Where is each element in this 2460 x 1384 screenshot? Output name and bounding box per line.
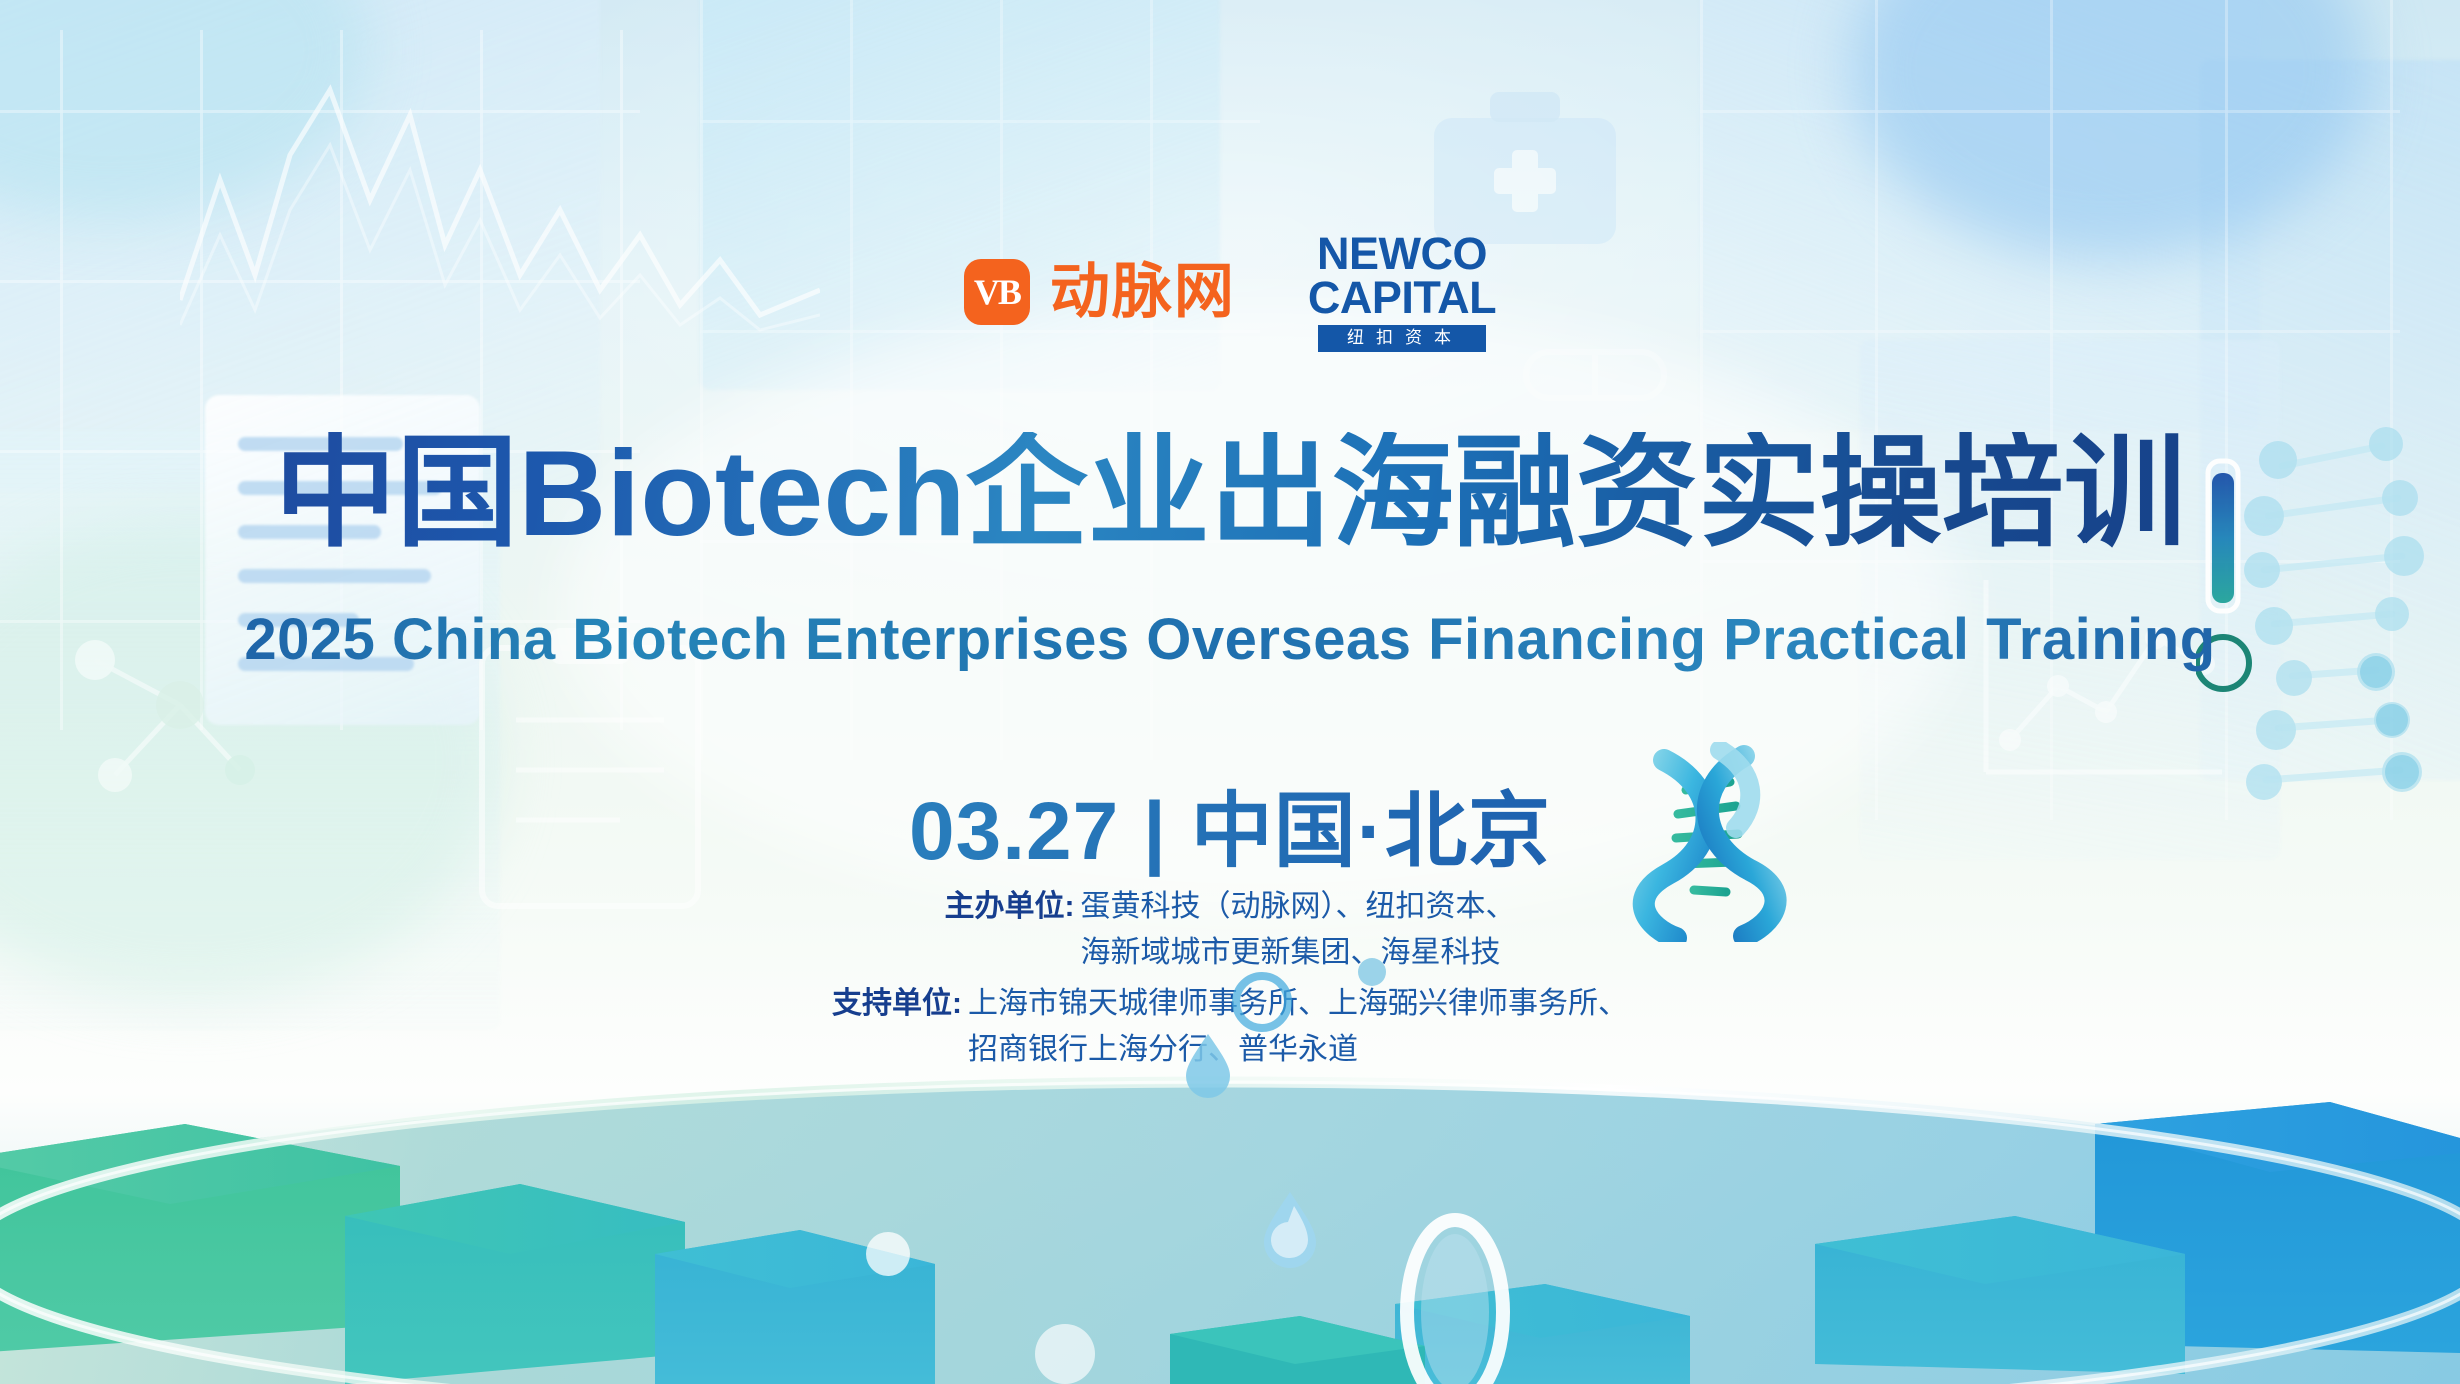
date-location-line: 03.27 | 中国·北京: [0, 764, 2460, 883]
bubble-decoration: [1358, 958, 1386, 986]
organizer-label: 主办单位:: [945, 884, 1075, 930]
logo-row: VB 动脉网 NEWCO CAPITAL 纽扣资本: [0, 232, 2460, 352]
page-subtitle: 2025 China Biotech Enterprises Overseas …: [0, 606, 2460, 673]
event-poster: VB 动脉网 NEWCO CAPITAL 纽扣资本 中国Biotech企业出海融…: [0, 0, 2460, 1384]
bubble-decoration: [866, 1232, 910, 1276]
organizer-line-1: 蛋黄科技（动脉网）、纽扣资本、: [1081, 884, 1516, 930]
logo-dongmaiwang[interactable]: VB 动脉网: [964, 259, 1236, 325]
bubble-decoration: [1035, 1324, 1095, 1384]
newco-line1: NEWCO: [1317, 232, 1487, 276]
newco-line2: CAPITAL: [1308, 276, 1496, 320]
newco-chinese-label: 纽扣资本: [1318, 325, 1486, 352]
vb-logo-mark: VB: [964, 259, 1030, 325]
stage-podium-shape: [0, 954, 2460, 1384]
water-droplet-icon: [1186, 1034, 1230, 1098]
logo-newco-capital[interactable]: NEWCO CAPITAL 纽扣资本: [1308, 232, 1496, 352]
page-title: 中国Biotech企业出海融资实操培训: [0, 432, 2460, 554]
bubble-decoration: [1236, 976, 1288, 1028]
podium-block-left-2: [345, 1184, 685, 1384]
dna-helix-icon: [2230, 420, 2440, 860]
dongmaiwang-label: 动脉网: [1050, 262, 1236, 322]
